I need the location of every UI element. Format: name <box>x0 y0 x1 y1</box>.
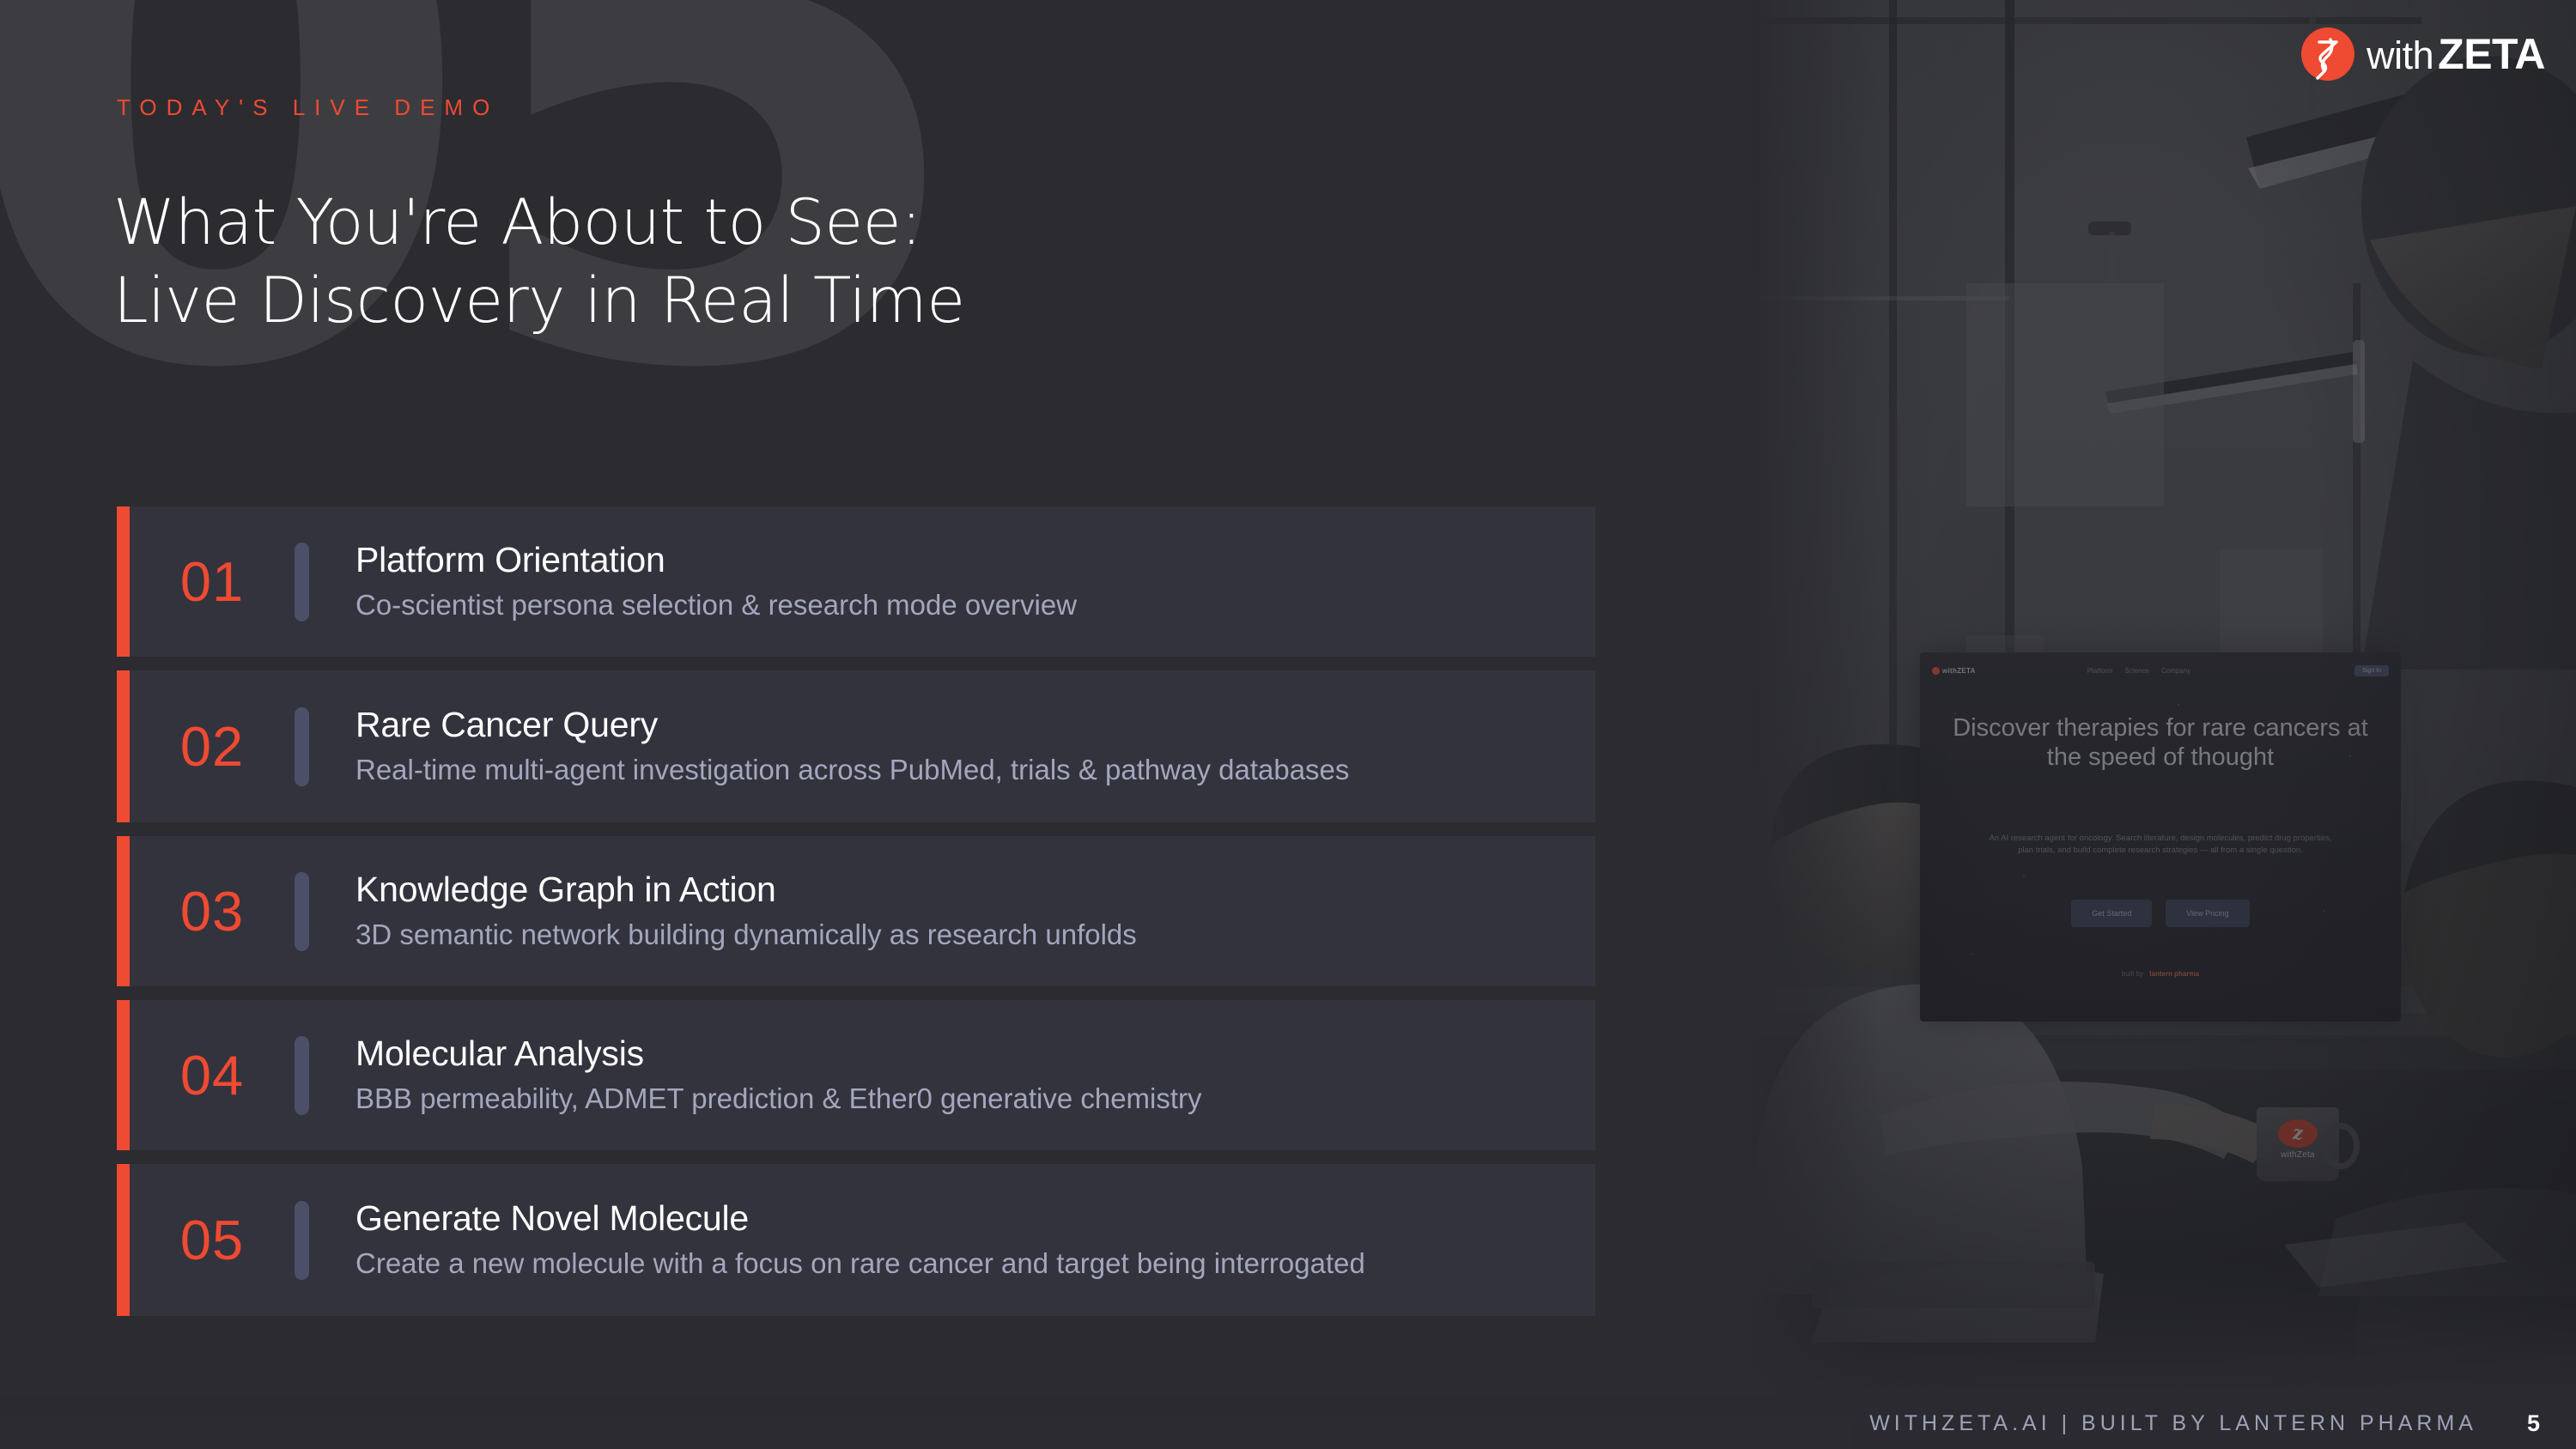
photo-left-fade <box>1752 0 1880 1403</box>
agenda-item-text: Knowledge Graph in Action 3D semantic ne… <box>355 836 1595 986</box>
page-title-line-1: What You're About to See: <box>113 185 965 263</box>
page-title: What You're About to See: Live Discovery… <box>113 185 965 340</box>
agenda-item-heading: Knowledge Graph in Action <box>355 868 1558 912</box>
agenda-item-text: Platform Orientation Co-scientist person… <box>355 506 1595 657</box>
agenda-item-04[interactable]: 04 Molecular Analysis BBB permeability, … <box>117 1000 1595 1150</box>
withzeta-logo: with ZETA <box>2301 27 2545 81</box>
agenda-item-02[interactable]: 02 Rare Cancer Query Real-time multi-age… <box>117 670 1595 822</box>
agenda-item-heading: Molecular Analysis <box>355 1032 1558 1076</box>
divider-bar <box>295 1201 309 1280</box>
agenda-item-description: Real-time multi-agent investigation acro… <box>355 750 1558 790</box>
accent-bar <box>117 1164 130 1316</box>
agenda-item-text: Rare Cancer Query Real-time multi-agent … <box>355 670 1595 822</box>
agenda-item-heading: Platform Orientation <box>355 538 1558 582</box>
agenda-item-01[interactable]: 01 Platform Orientation Co-scientist per… <box>117 506 1595 657</box>
agenda-item-description: 3D semantic network building dynamically… <box>355 915 1558 955</box>
agenda-item-number: 03 <box>130 836 295 986</box>
slide-root: 05 <box>0 0 2576 1449</box>
agenda-item-description: Co-scientist persona selection & researc… <box>355 585 1558 625</box>
agenda-item-03[interactable]: 03 Knowledge Graph in Action 3D semantic… <box>117 836 1595 986</box>
page-title-line-2: Live Discovery in Real Time <box>113 263 965 341</box>
agenda-item-heading: Generate Novel Molecule <box>355 1197 1558 1240</box>
accent-bar <box>117 1000 130 1150</box>
divider-bar <box>295 543 309 621</box>
agenda-item-description: Create a new molecule with a focus on ra… <box>355 1244 1558 1283</box>
agenda-item-05[interactable]: 05 Generate Novel Molecule Create a new … <box>117 1164 1595 1316</box>
slide-content: TODAY'S LIVE DEMO What You're About to S… <box>0 0 1717 1449</box>
page-number: 5 <box>2527 1410 2540 1437</box>
logo-wordmark: with ZETA <box>2366 29 2545 79</box>
zeta-monogram-icon <box>2301 27 2354 81</box>
accent-bar <box>117 506 130 657</box>
agenda-item-number: 04 <box>130 1000 295 1150</box>
hero-photo: withZETA Platform Science Company Sign I… <box>1752 0 2576 1403</box>
agenda-item-text: Molecular Analysis BBB permeability, ADM… <box>355 1000 1595 1150</box>
agenda-list: 01 Platform Orientation Co-scientist per… <box>117 506 1595 1330</box>
photo-bottom-fade <box>1752 1257 2576 1403</box>
agenda-item-description: BBB permeability, ADMET prediction & Eth… <box>355 1079 1558 1119</box>
divider-bar <box>295 1036 309 1115</box>
agenda-item-text: Generate Novel Molecule Create a new mol… <box>355 1164 1595 1316</box>
accent-bar <box>117 670 130 822</box>
eyebrow-label: TODAY'S LIVE DEMO <box>117 94 499 121</box>
agenda-item-number: 01 <box>130 506 295 657</box>
agenda-item-number: 02 <box>130 670 295 822</box>
divider-bar <box>295 707 309 786</box>
divider-bar <box>295 872 309 951</box>
agenda-item-heading: Rare Cancer Query <box>355 703 1558 747</box>
footer-text: WITHZETA.AI | BUILT BY LANTERN PHARMA <box>1869 1411 2477 1436</box>
accent-bar <box>117 836 130 986</box>
slide-footer: WITHZETA.AI | BUILT BY LANTERN PHARMA 5 <box>0 1397 2576 1449</box>
logo-zeta-text: ZETA <box>2438 29 2545 79</box>
logo-with-text: with <box>2366 33 2433 78</box>
agenda-item-number: 05 <box>130 1164 295 1316</box>
